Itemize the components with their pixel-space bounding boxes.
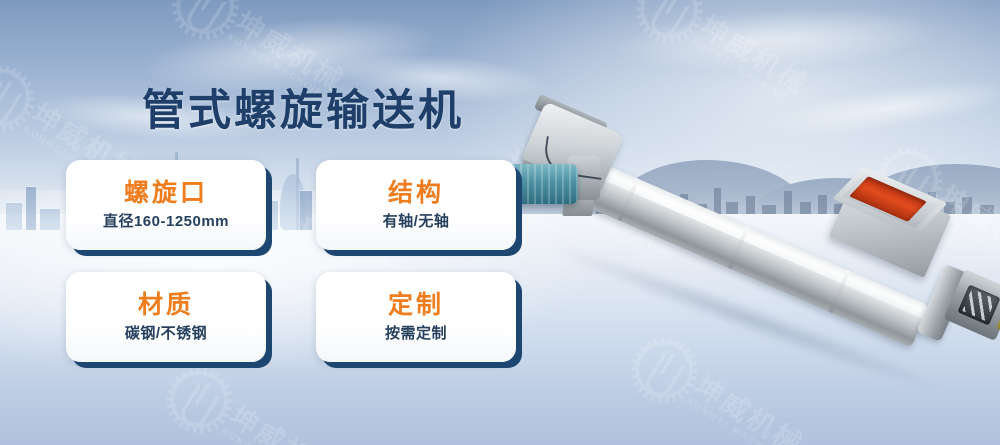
motor-cooling-fins [506,164,578,204]
feature-card-customization[interactable]: 定制 按需定制 [316,272,516,362]
feature-card-material[interactable]: 材质 碳钢/不锈钢 [66,272,266,362]
feature-card-subtitle: 直径160-1250mm [103,213,229,231]
product-image-screw-conveyor [500,130,1000,360]
feature-card-subtitle: 有轴/无轴 [383,213,450,231]
drive-motor [506,164,578,204]
feature-card-subtitle: 碳钢/不锈钢 [125,325,207,343]
feature-card-title: 定制 [388,291,444,320]
feature-card-spiral-opening[interactable]: 螺旋口 直径160-1250mm [66,160,266,250]
feature-card-structure[interactable]: 结构 有轴/无轴 [316,160,516,250]
page-title: 管式螺旋输送机 [142,76,464,138]
feature-card-subtitle: 按需定制 [385,325,447,343]
feature-card-title: 材质 [138,291,194,320]
feature-card-title: 螺旋口 [124,179,208,208]
feature-card-grid: 螺旋口 直径160-1250mm 结构 有轴/无轴 材质 碳钢/不锈钢 定制 按… [66,160,516,362]
product-banner: 坤威机械 KUNWEI MACHINE 坤威机械 KUNWEI MACHINE … [0,0,1000,445]
feature-card-title: 结构 [388,179,444,208]
